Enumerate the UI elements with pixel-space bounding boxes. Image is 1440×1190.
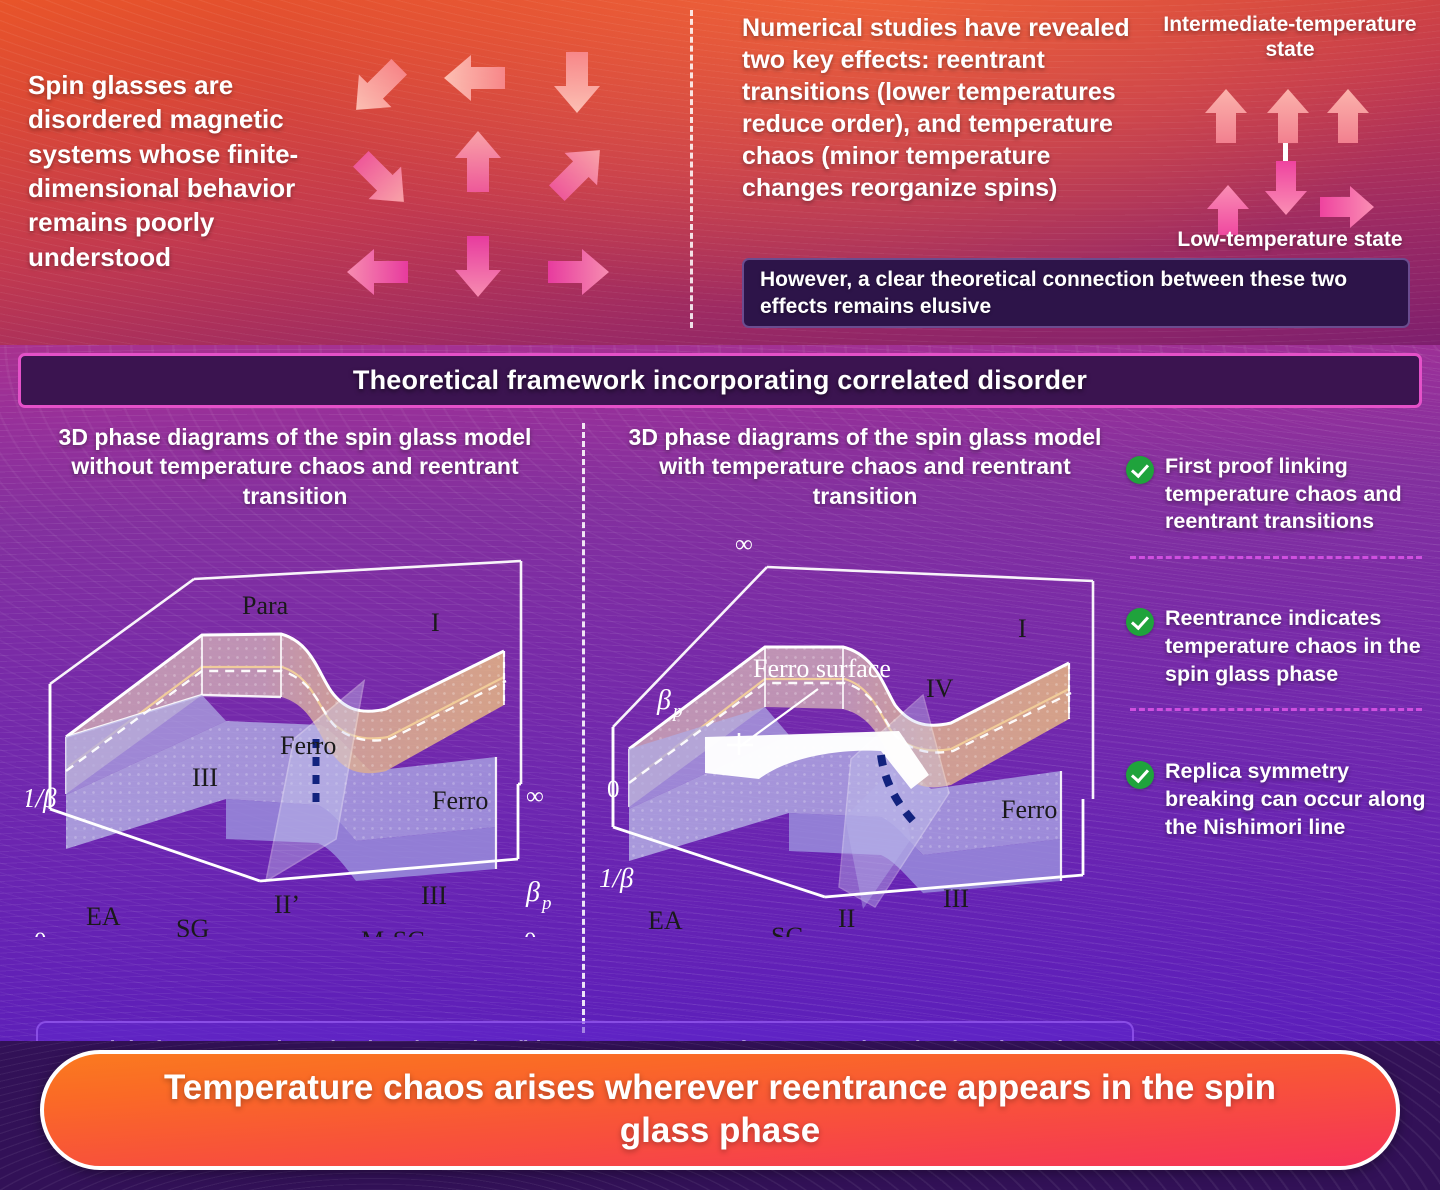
axis-label-beta-p-subscript: p: [540, 893, 552, 914]
top-vertical-divider: [690, 10, 693, 328]
finding-text-2: Reentrance indicates temperature chaos i…: [1165, 605, 1426, 688]
conclusion-text: Temperature chaos arises wherever reentr…: [130, 1067, 1310, 1152]
label-region-II: II: [838, 904, 855, 933]
phase-diagram-without-chaos: Para Ferro Ferro I III III II’ SG M-SG E…: [26, 509, 566, 937]
panel-vertical-divider: [582, 423, 585, 1033]
problem-callout-text: However, a clear theoretical connection …: [760, 266, 1392, 321]
finding-item-1: First proof linking temperature chaos an…: [1126, 453, 1426, 536]
intro-mid-text: Numerical studies have revealed two key …: [742, 12, 1152, 204]
label-region-IV: IV: [926, 674, 954, 703]
label-para: Para: [242, 591, 289, 620]
low-temperature-label: Low-temperature state: [1140, 228, 1440, 252]
finding-text-1: First proof linking temperature chaos an…: [1165, 453, 1426, 536]
intro-left-text: Spin glasses are disordered magnetic sys…: [28, 68, 328, 274]
label-region-III-right: III: [421, 881, 447, 910]
label-ferro-surface: Ferro surface: [753, 654, 891, 683]
rail-divider-2: [1130, 708, 1422, 711]
framework-banner: Theoretical framework incorporating corr…: [18, 353, 1422, 408]
label-msg: M-SG: [361, 926, 426, 937]
framework-banner-text: Theoretical framework incorporating corr…: [353, 365, 1087, 396]
check-circle-icon: [1126, 608, 1154, 636]
conclusion-banner: Temperature chaos arises wherever reentr…: [40, 1050, 1400, 1170]
axis-origin-left: 0: [34, 928, 47, 937]
top-intro-band: Spin glasses are disordered magnetic sys…: [0, 0, 1440, 345]
temperature-chaos-arrows: [1180, 55, 1420, 235]
label-region-IIprime: II’: [274, 890, 300, 919]
diagram-panels: 3D phase diagrams of the spin glass mode…: [18, 423, 1116, 1035]
label-ea: EA: [86, 902, 121, 931]
phase-diagram-with-chaos: Ferro surface Ferro I IV II III SG M-SG …: [593, 509, 1133, 937]
finding-item-3: Replica symmetry breaking can occur alon…: [1126, 758, 1426, 841]
left-panel-title: 3D phase diagrams of the spin glass mode…: [40, 423, 550, 511]
label-sg-2: SG: [771, 922, 804, 937]
label-ferro-right-2: Ferro: [1001, 795, 1057, 824]
finding-text-3: Replica symmetry breaking can occur alon…: [1165, 758, 1426, 841]
rail-divider-1: [1130, 556, 1422, 559]
label-sg: SG: [176, 914, 209, 937]
finding-item-2: Reentrance indicates temperature chaos i…: [1126, 605, 1426, 688]
problem-callout-box: However, a clear theoretical connection …: [742, 258, 1410, 328]
axis-zero-beta-p: 0: [607, 776, 620, 803]
axis-label-inverse-beta-2: 1/β: [599, 863, 634, 893]
check-circle-icon: [1126, 456, 1154, 484]
axis-origin-right: 0: [524, 928, 537, 937]
label-ferro-top: Ferro: [280, 731, 336, 760]
conclusion-section: Temperature chaos arises wherever reentr…: [0, 1041, 1440, 1190]
check-circle-icon: [1126, 761, 1154, 789]
axis-label-beta-p: β: [525, 877, 540, 908]
axis-label-inverse-beta: 1/β: [26, 783, 57, 813]
axis-label-beta-p-2: β: [656, 685, 671, 716]
label-region-I-2: I: [1018, 614, 1027, 643]
disordered-spin-arrows: [330, 40, 640, 320]
label-ea-2: EA: [648, 906, 683, 935]
axis-infinity-top: ∞: [735, 531, 753, 558]
right-panel-title: 3D phase diagrams of the spin glass mode…: [610, 423, 1120, 511]
label-region-III-left: III: [192, 763, 218, 792]
label-region-III-2: III: [943, 884, 969, 913]
axis-label-beta-p-sub-2: p: [671, 701, 683, 722]
axis-infinity-right: ∞: [526, 783, 544, 810]
key-findings-rail: First proof linking temperature chaos an…: [1126, 445, 1426, 1045]
label-ferro-right: Ferro: [432, 786, 488, 815]
label-region-I: I: [431, 608, 440, 637]
